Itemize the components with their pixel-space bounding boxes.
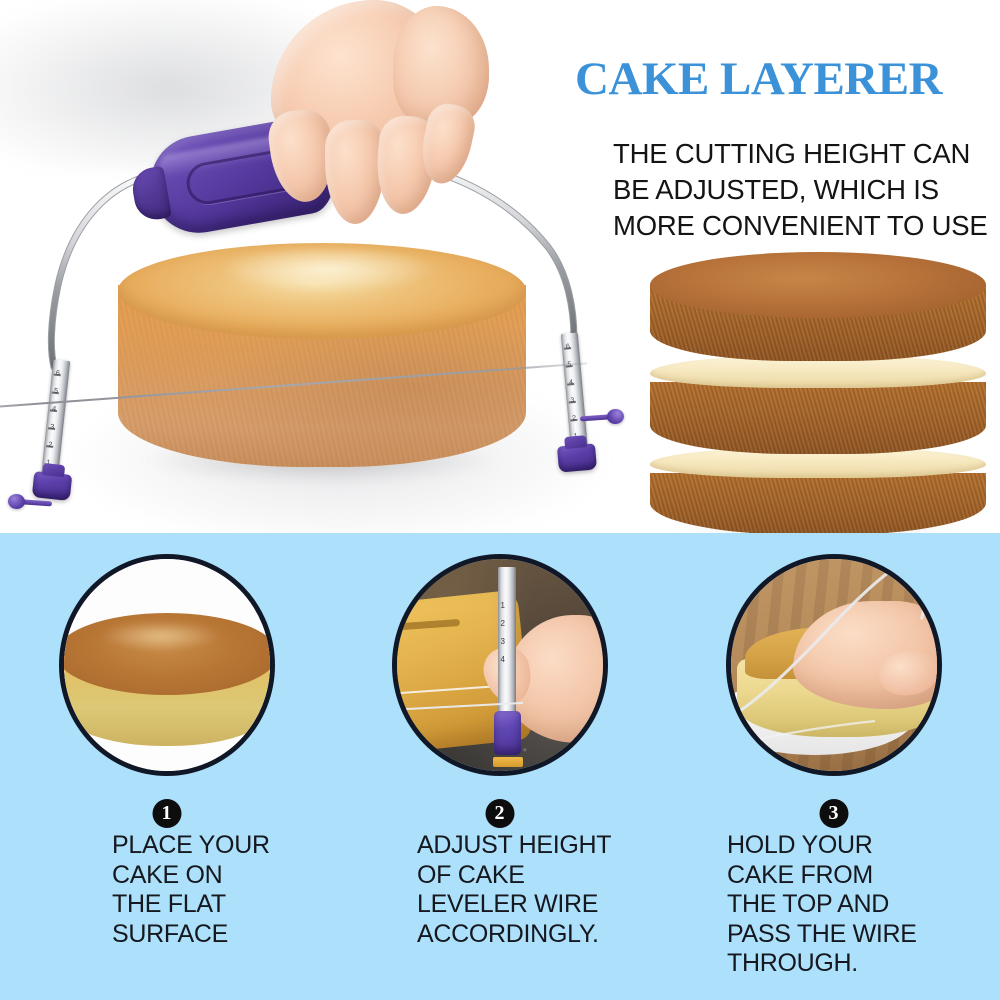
step-3-badge: 3 xyxy=(819,799,848,828)
step-3-line-3: THE TOP AND xyxy=(727,890,917,920)
subtitle-line-3: MORE CONVENIENT TO USE xyxy=(613,208,1000,244)
step-2: 1 2 3 4 2 ADJUST HEIGHT OF CAKE LEVELER xyxy=(333,533,666,1000)
ruler-mark-right-3: 4 xyxy=(569,379,574,386)
step-2-line-4: ACCORDINGLY. xyxy=(417,920,611,950)
step-2-ruler-mark-4: 4 xyxy=(501,655,505,664)
subtitle-line-2: BE ADJUSTED, WHICH IS xyxy=(613,172,1000,208)
human-hand xyxy=(243,0,483,240)
pin-head-left xyxy=(8,493,26,509)
step-2-badge: 2 xyxy=(485,799,514,828)
step-1-line-4: SURFACE xyxy=(112,920,270,950)
step-3-line-1: HOLD YOUR xyxy=(727,831,917,861)
step-1-line-2: CAKE ON xyxy=(112,861,270,891)
step-1-line-1: PLACE YOUR xyxy=(112,831,270,861)
layer-cake-photo xyxy=(636,252,998,520)
step-2-ruler-mark-3: 3 xyxy=(501,637,505,646)
step-2-line-2: OF CAKE xyxy=(417,861,611,891)
instructions-panel: 1 PLACE YOUR CAKE ON THE FLAT SURFACE xyxy=(0,533,1000,1000)
step-1-badge: 1 xyxy=(152,799,181,828)
step-3-leveler-wire xyxy=(731,559,937,771)
step-2-purple-knob[interactable] xyxy=(494,711,521,755)
step-2-ruler-mark-1: 1 xyxy=(501,601,505,610)
ruler-mark-left-4: 3 xyxy=(50,424,55,431)
step-2-tape-strip xyxy=(493,757,523,767)
cake-leveler-tool: 6 5 4 3 2 1 6 5 4 3 2 xyxy=(0,95,640,515)
step-2-cake-slit xyxy=(392,619,460,631)
step-1-photo-inner xyxy=(64,559,270,771)
height-adjust-pin-right[interactable] xyxy=(578,408,625,426)
step-1-cake-sheen xyxy=(101,621,220,651)
sponge-layer-bottom xyxy=(650,473,986,533)
step-1-caption: PLACE YOUR CAKE ON THE FLAT SURFACE xyxy=(112,831,270,949)
infographic-page: CAKE LAYERER THE CUTTING HEIGHT CAN BE A… xyxy=(0,0,1000,1000)
ruler-mark-left-2: 5 xyxy=(54,388,59,395)
step-3-photo-inner xyxy=(731,559,937,771)
step-3-line-5: THROUGH. xyxy=(727,949,917,979)
step-1-photo xyxy=(59,554,275,776)
ruler-mark-left-5: 2 xyxy=(48,441,53,448)
ruler-mark-right-5: 2 xyxy=(572,415,577,422)
ruler-foot-right xyxy=(557,443,597,472)
page-subtitle: THE CUTTING HEIGHT CAN BE ADJUSTED, WHIC… xyxy=(613,136,1000,243)
hand-finger-middle xyxy=(325,120,385,224)
step-3-caption: HOLD YOUR CAKE FROM THE TOP AND PASS THE… xyxy=(727,831,917,979)
ruler-mark-right-4: 3 xyxy=(570,397,575,404)
step-2-ruler-mark-2: 2 xyxy=(501,619,505,628)
step-2-ruler-post[interactable]: 1 2 3 4 xyxy=(498,567,516,717)
subtitle-line-1: THE CUTTING HEIGHT CAN xyxy=(613,136,1000,172)
height-adjust-pin-left[interactable] xyxy=(8,493,55,511)
ruler-mark-left-3: 4 xyxy=(52,406,57,413)
step-3-line-4: PASS THE WIRE xyxy=(727,920,917,950)
steps-row: 1 PLACE YOUR CAKE ON THE FLAT SURFACE xyxy=(0,533,1000,1000)
step-1: 1 PLACE YOUR CAKE ON THE FLAT SURFACE xyxy=(0,533,333,1000)
step-2-caption: ADJUST HEIGHT OF CAKE LEVELER WIRE ACCOR… xyxy=(417,831,611,949)
step-2-line-1: ADJUST HEIGHT xyxy=(417,831,611,861)
step-2-photo: 1 2 3 4 xyxy=(392,554,608,776)
step-3: 3 HOLD YOUR CAKE FROM THE TOP AND PASS T… xyxy=(667,533,1000,1000)
step-3-photo xyxy=(726,554,942,776)
step-2-line-3: LEVELER WIRE xyxy=(417,890,611,920)
step-2-photo-inner: 1 2 3 4 xyxy=(397,559,603,771)
layer-cake-top-crust xyxy=(650,252,986,318)
step-1-line-3: THE FLAT xyxy=(112,890,270,920)
ruler-mark-left-1: 6 xyxy=(56,370,61,377)
pin-head-right xyxy=(606,408,624,424)
ruler-mark-right-1: 6 xyxy=(566,343,571,350)
step-3-line-2: CAKE FROM xyxy=(727,861,917,891)
product-hero-panel: CAKE LAYERER THE CUTTING HEIGHT CAN BE A… xyxy=(0,0,1000,533)
sponge-layer-middle xyxy=(650,382,986,454)
